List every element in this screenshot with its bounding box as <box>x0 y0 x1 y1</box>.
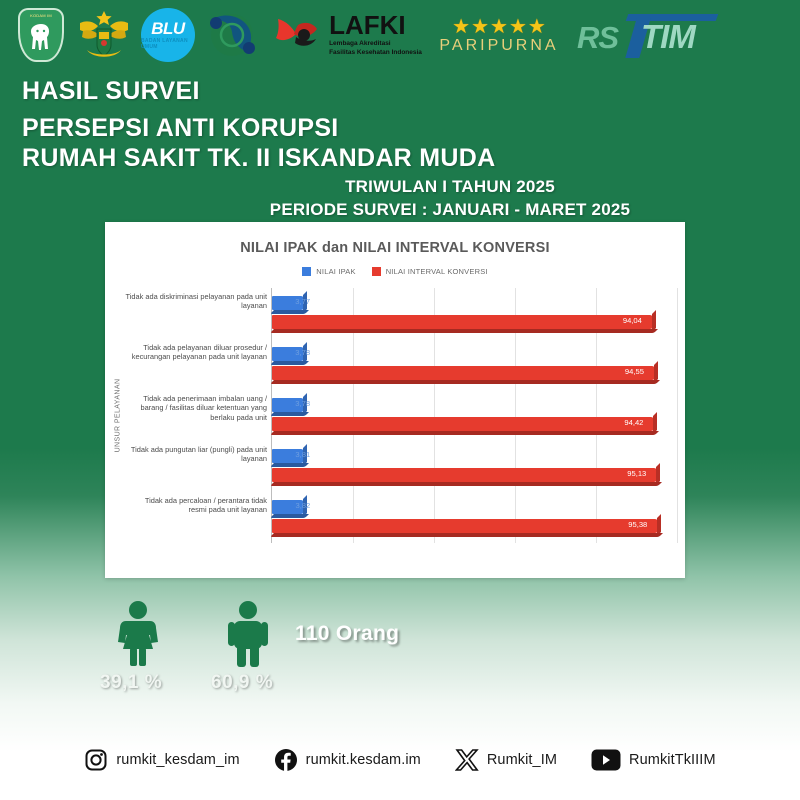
lafki-tagline-2: Fasilitas Kesehatan Indonesia <box>329 49 422 56</box>
male-figure-icon <box>223 600 273 668</box>
bar-value-nilai-interval-konversi: 95,38 <box>628 520 647 529</box>
chart-row: 3,7894,42 <box>272 390 677 441</box>
bars-region: 3,7794,043,7894,553,7894,423,8195,133,82… <box>271 288 677 543</box>
x-twitter-icon <box>455 748 479 772</box>
youtube-icon <box>591 749 621 771</box>
social-instagram[interactable]: rumkit_kesdam_im <box>84 748 239 772</box>
kodam-iskandar-muda-logo: KODAM IM <box>14 7 68 63</box>
social-facebook[interactable]: rumkit.kesdam.im <box>274 748 421 772</box>
gridline <box>677 288 678 543</box>
category-label: Tidak ada pelayanan diluar prosedur / ke… <box>125 343 267 362</box>
respondent-stats: 39,1 % 60,9 % 110 Orang <box>95 596 575 696</box>
social-handle-facebook: rumkit.kesdam.im <box>306 752 421 768</box>
legend-label-konversi: NILAI INTERVAL KONVERSI <box>386 267 488 276</box>
paripurna-stars-logo: ★ ★ ★ ★ ★ PARIPURNA <box>434 6 564 64</box>
chart-title: NILAI IPAK dan NILAI INTERVAL KONVERSI <box>105 240 685 256</box>
social-footer: rumkit_kesdam_im rumkit.kesdam.im Rumkit… <box>0 748 800 772</box>
poster-root: KODAM IM B <box>0 0 800 800</box>
female-percentage: 39,1 % <box>100 672 162 694</box>
legend-item-konversi: NILAI INTERVAL KONVERSI <box>372 267 488 276</box>
blu-logo-subtext: BADAN LAYANAN UMUM <box>141 38 195 50</box>
legend-item-ipak: NILAI IPAK <box>302 267 355 276</box>
bar-value-nilai-interval-konversi: 94,55 <box>625 367 644 376</box>
rs-tim-logo: RS TIM <box>570 6 720 64</box>
social-handle-x: Rumkit_IM <box>487 752 557 768</box>
category-labels: Tidak ada diskriminasi pelayanan pada un… <box>125 288 269 543</box>
social-handle-instagram: rumkit_kesdam_im <box>116 752 239 768</box>
bar-value-nilai-ipak: 3,77 <box>295 297 310 306</box>
title-line-3: RUMAH SAKIT TK. II ISKANDAR MUDA <box>22 143 742 174</box>
kemhan-garuda-logo <box>74 6 134 64</box>
elephant-icon <box>28 22 54 54</box>
lafki-logo: LAFKI Lembaga Akreditasi Fasilitas Keseh… <box>268 6 428 64</box>
chart-row: 3,7894,55 <box>272 339 677 390</box>
bar-nilai-interval-konversi <box>272 366 655 380</box>
star-icon: ★ <box>452 17 470 37</box>
blu-bpjs-logo: BLU BADAN LAYANAN UMUM <box>140 6 196 64</box>
star-icon: ★ <box>509 17 527 37</box>
bar-value-nilai-ipak: 3,82 <box>295 501 310 510</box>
star-rating-icons: ★ ★ ★ ★ ★ <box>452 17 546 37</box>
legend-swatch-konversi <box>372 267 381 276</box>
globe-icon <box>203 7 261 63</box>
subtitle-line-1: TRIWULAN I TAHUN 2025 <box>100 176 800 199</box>
kars-globe-logo <box>202 6 262 64</box>
paripurna-label: PARIPURNA <box>439 38 558 54</box>
title-line-2: PERSEPSI ANTI KORUPSI <box>22 113 742 144</box>
lafki-wordmark: LAFKI <box>329 13 422 38</box>
kodam-shield-icon: KODAM IM <box>18 8 64 62</box>
chart-row: 3,7794,04 <box>272 288 677 339</box>
plot-area: UNSUR PELAYANAN Tidak ada diskriminasi p… <box>105 288 685 560</box>
y-axis-title: UNSUR PELAYANAN <box>111 288 125 543</box>
legend-swatch-ipak <box>302 267 311 276</box>
category-label: Tidak ada diskriminasi pelayanan pada un… <box>125 292 267 311</box>
bar-value-nilai-ipak: 3,78 <box>295 348 310 357</box>
male-percentage: 60,9 % <box>211 672 273 694</box>
lafki-tagline-1: Lembaga Akreditasi <box>329 40 422 47</box>
legend-label-ipak: NILAI IPAK <box>316 267 355 276</box>
bar-nilai-interval-konversi <box>272 468 657 482</box>
rstim-tim-text: TIM <box>641 18 695 56</box>
blu-circle-icon: BLU BADAN LAYANAN UMUM <box>141 8 195 62</box>
social-youtube[interactable]: RumkitTkIIIM <box>591 749 716 771</box>
chart-legend: NILAI IPAK NILAI INTERVAL KONVERSI <box>105 267 685 276</box>
bar-value-nilai-interval-konversi: 95,13 <box>627 469 646 478</box>
social-x-twitter[interactable]: Rumkit_IM <box>455 748 557 772</box>
bar-value-nilai-ipak: 3,78 <box>295 399 310 408</box>
facebook-icon <box>274 748 298 772</box>
page-subtitle: TRIWULAN I TAHUN 2025 PERIODE SURVEI : J… <box>0 176 800 221</box>
chart-panel: NILAI IPAK dan NILAI INTERVAL KONVERSI N… <box>105 222 685 578</box>
bar-nilai-interval-konversi <box>272 519 658 533</box>
social-handle-youtube: RumkitTkIIIM <box>629 752 716 768</box>
female-figure-icon <box>113 600 163 668</box>
star-icon: ★ <box>528 17 546 37</box>
bar-value-nilai-interval-konversi: 94,04 <box>623 316 642 325</box>
rstim-rs-text: RS <box>577 20 618 56</box>
blu-logo-text: BLU <box>151 20 184 37</box>
bar-nilai-interval-konversi <box>272 315 653 329</box>
kodam-shield-text: KODAM IM <box>20 13 62 18</box>
title-line-1: HASIL SURVEI <box>22 76 742 107</box>
bar-value-nilai-ipak: 3,81 <box>295 450 310 459</box>
instagram-icon <box>84 748 108 772</box>
chart-row: 3,8295,38 <box>272 492 677 543</box>
star-icon: ★ <box>490 17 508 37</box>
header-logo-strip: KODAM IM B <box>0 0 800 70</box>
subtitle-line-2: PERIODE SURVEI : JANUARI - MARET 2025 <box>100 199 800 222</box>
chart-row: 3,8195,13 <box>272 441 677 492</box>
lafki-bird-icon <box>274 13 324 57</box>
garuda-emblem-icon <box>75 7 133 63</box>
page-title: HASIL SURVEI PERSEPSI ANTI KORUPSI RUMAH… <box>22 76 742 174</box>
category-label: Tidak ada percaloan / perantara tidak re… <box>125 496 267 515</box>
bar-value-nilai-interval-konversi: 94,42 <box>624 418 643 427</box>
category-label: Tidak ada penerimaan imbalan uang / bara… <box>125 394 267 422</box>
total-respondents: 110 Orang <box>295 622 399 646</box>
bar-nilai-interval-konversi <box>272 417 654 431</box>
y-axis-title-text: UNSUR PELAYANAN <box>115 379 122 453</box>
star-icon: ★ <box>471 17 489 37</box>
category-label: Tidak ada pungutan liar (pungli) pada un… <box>125 445 267 464</box>
